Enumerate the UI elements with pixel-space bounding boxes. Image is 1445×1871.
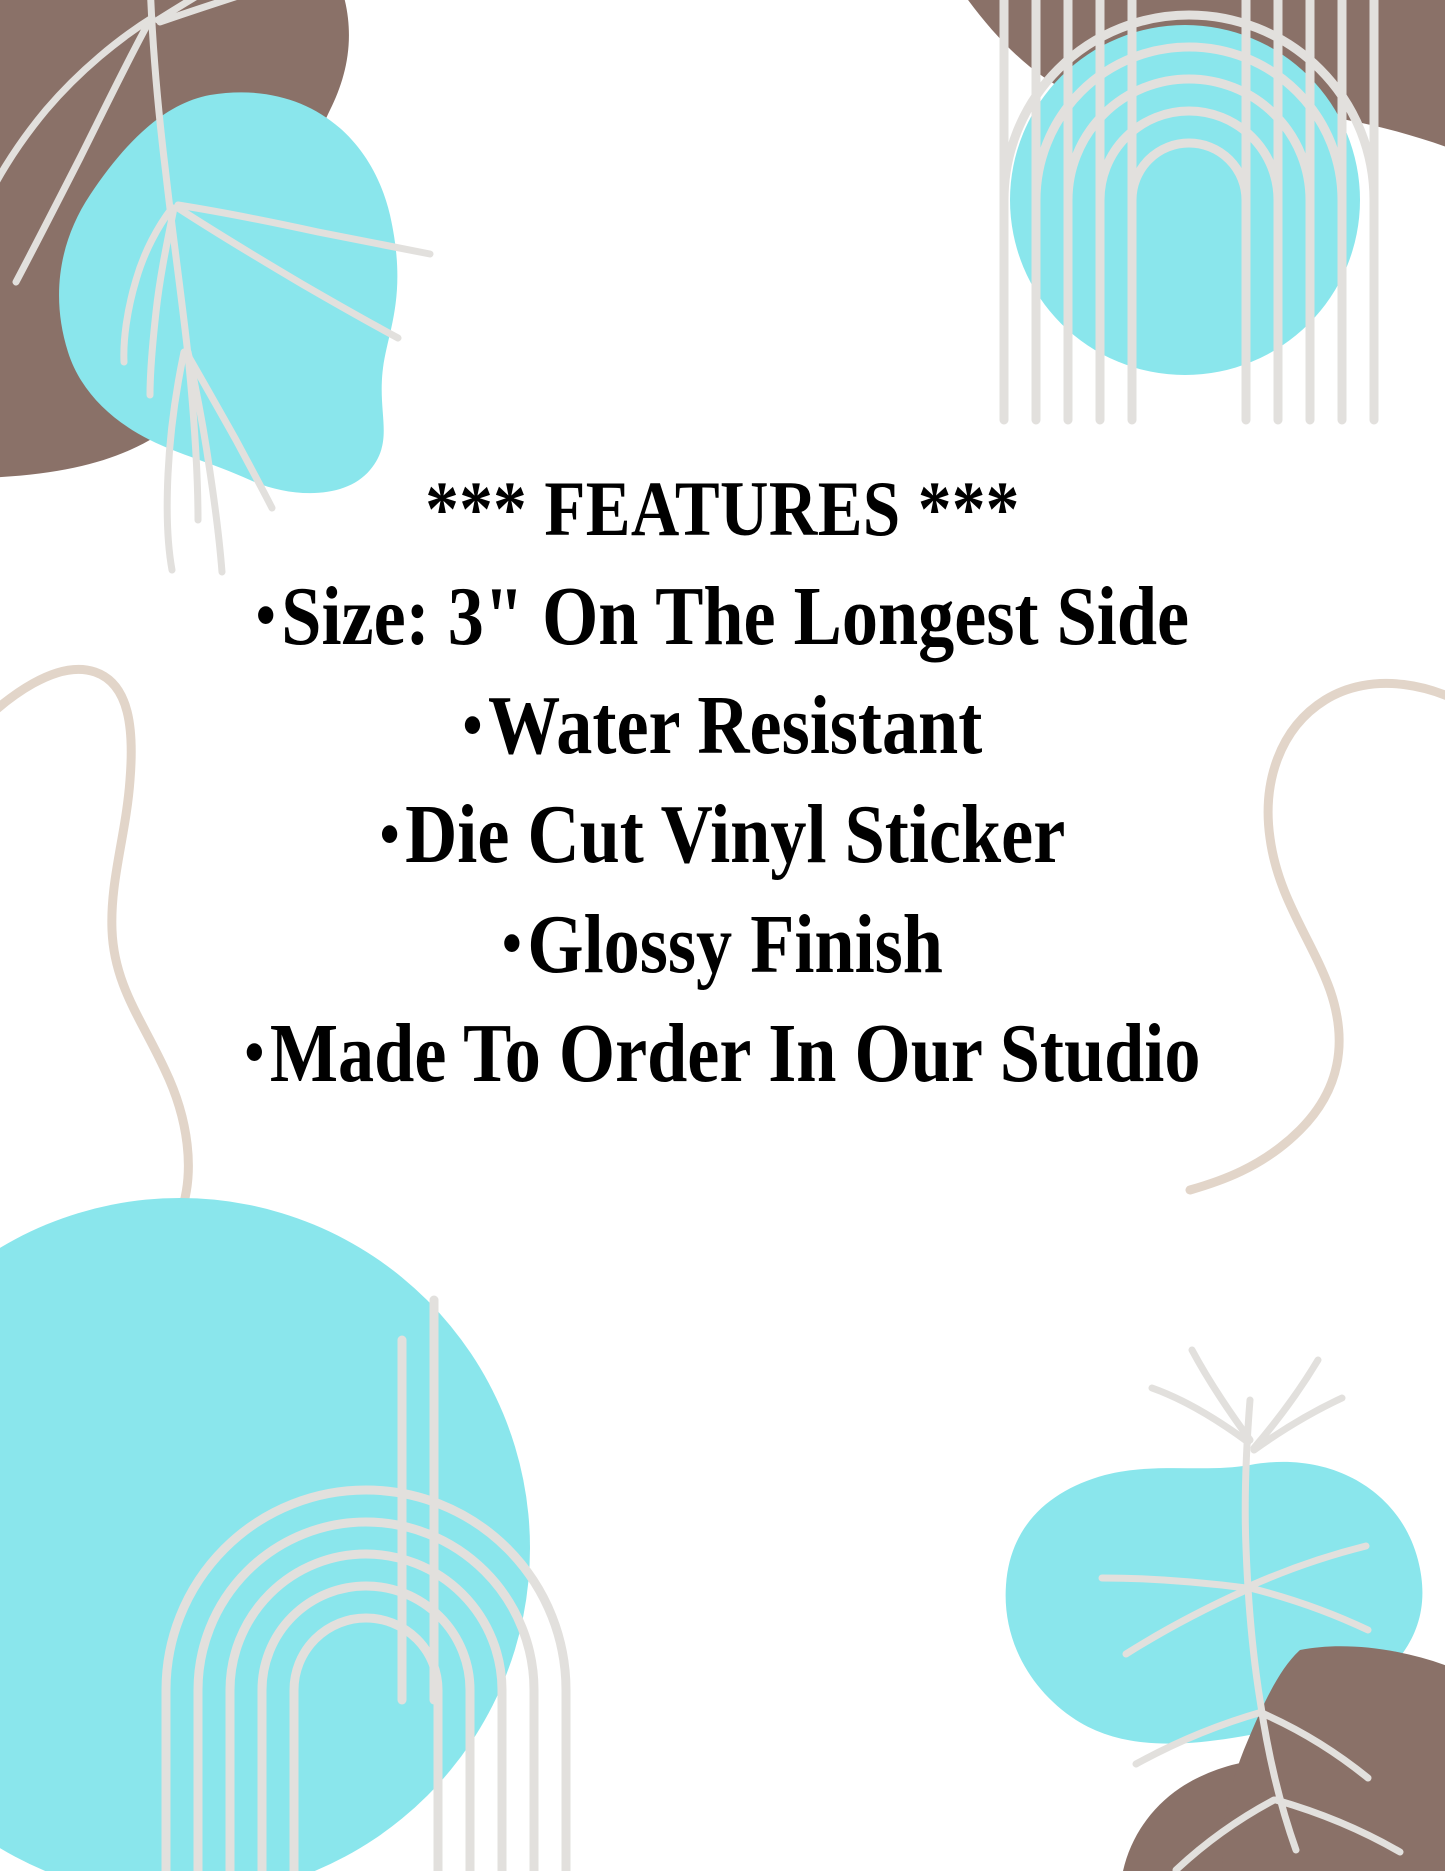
cyan-circle-bottom-left [0,1198,530,1871]
list-item-label: Die Cut Vinyl Sticker [405,788,1065,881]
cyan-blob-bottom-right [1006,1462,1423,1744]
list-item: •Made To Order In Our Studio [101,999,1344,1108]
list-item-label: Glossy Finish [527,898,943,991]
brown-shape-top-right-2 [940,0,1445,150]
cyan-circle-top-right [1010,25,1360,375]
bullet-icon: • [380,803,400,869]
arch-lines-bottom-left [166,1300,566,1871]
bullet-icon: • [502,912,522,978]
list-item: •Glossy Finish [101,890,1344,999]
bullet-icon: • [463,694,483,760]
list-item: •Size: 3" On The Longest Side [101,562,1344,671]
brown-blob-bottom-right-2 [1222,1646,1445,1871]
page-title: *** FEATURES *** [101,470,1344,548]
list-item-label: Made To Order In Our Studio [270,1007,1201,1100]
arch-lines-top-right [1004,0,1374,420]
list-item-label: Water Resistant [488,679,982,772]
bullet-icon: • [256,584,276,650]
cyan-blob-top-left [59,92,397,493]
brown-shape-top-right [1090,0,1445,60]
eucalyptus-leaf-line-bottom-right [1102,1350,1400,1870]
features-list: •Size: 3" On The Longest Side •Water Res… [0,562,1445,1108]
bullet-icon: • [244,1021,264,1087]
brown-blob-bottom-right [1120,1758,1445,1871]
list-item-label: Size: 3" On The Longest Side [281,570,1189,663]
poster-page: *** FEATURES *** •Size: 3" On The Longes… [0,0,1445,1871]
list-item: •Water Resistant [101,671,1344,780]
list-item: •Die Cut Vinyl Sticker [101,780,1344,889]
features-content: *** FEATURES *** •Size: 3" On The Longes… [0,470,1445,1108]
brown-blob-top-left [0,0,349,478]
